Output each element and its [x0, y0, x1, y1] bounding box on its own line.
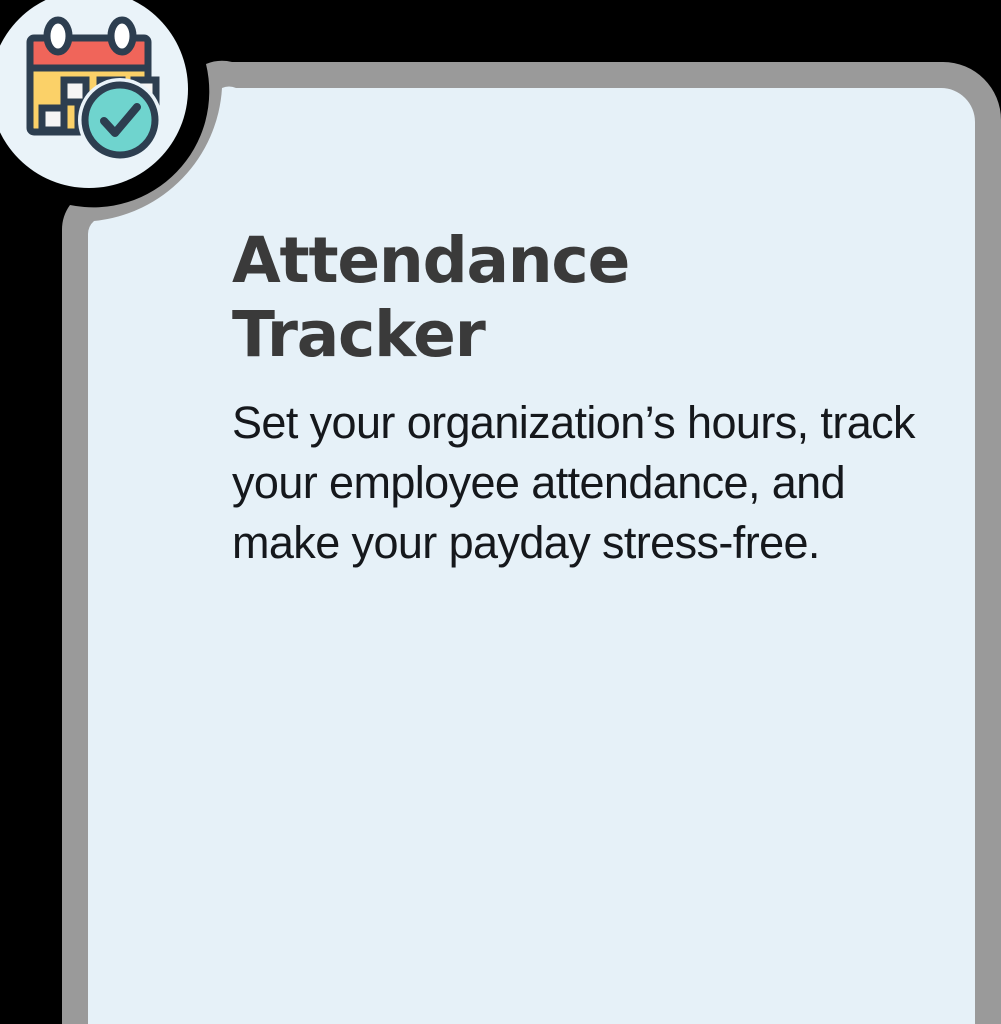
card-canvas: Attendance Tracker Set your organization…: [0, 0, 1001, 1024]
card-text-block: Attendance Tracker Set your organization…: [232, 224, 932, 573]
check-badge-icon: [78, 78, 162, 162]
page-title: Attendance Tracker: [232, 224, 672, 371]
calendar-check-icon: [0, 0, 188, 188]
card-description: Set your organization’s hours, track you…: [232, 393, 932, 573]
